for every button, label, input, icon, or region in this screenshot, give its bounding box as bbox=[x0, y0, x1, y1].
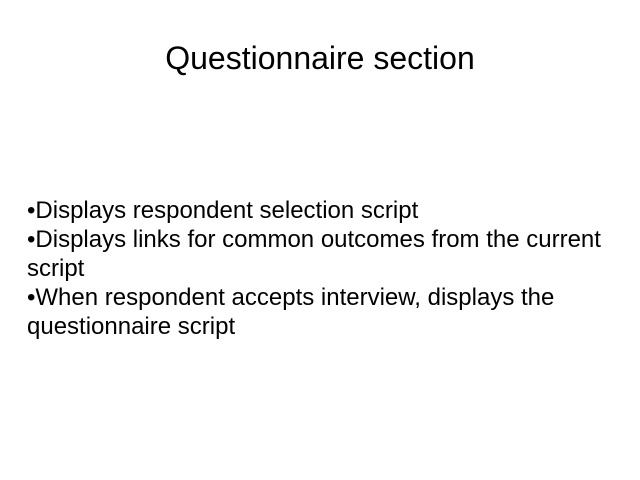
list-item-label: Displays links for common outcomes from … bbox=[27, 226, 601, 282]
bullet-list: •Displays respondent selection script •D… bbox=[27, 196, 613, 341]
list-item-label: Displays respondent selection script bbox=[35, 197, 418, 224]
page-title: Questionnaire section bbox=[0, 38, 640, 78]
slide: Questionnaire section •Displays responde… bbox=[0, 0, 640, 480]
list-item: •When respondent accepts interview, disp… bbox=[27, 283, 613, 341]
list-item-label: When respondent accepts interview, displ… bbox=[27, 284, 554, 340]
list-item: •Displays respondent selection script bbox=[27, 196, 613, 225]
list-item: •Displays links for common outcomes from… bbox=[27, 225, 613, 283]
